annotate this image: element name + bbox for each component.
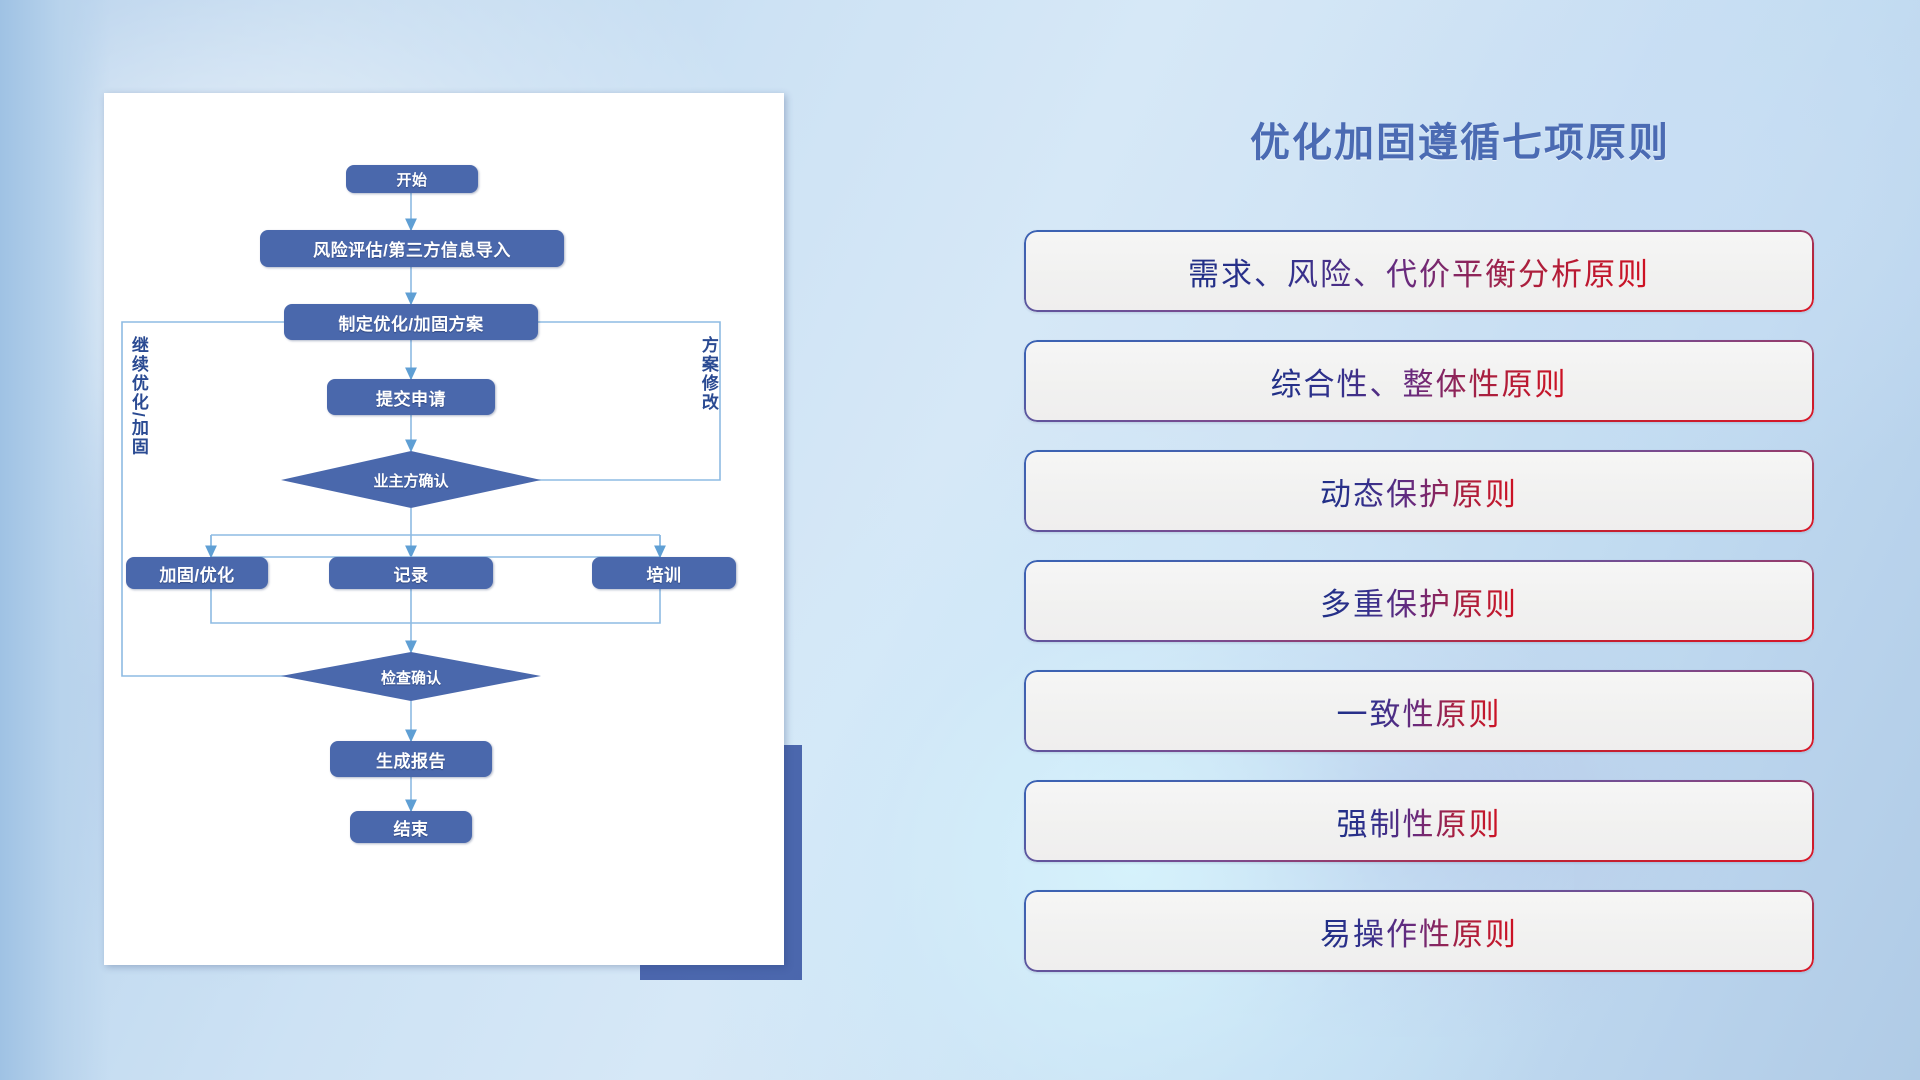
node-generate-report[interactable]: 生成报告	[330, 741, 492, 777]
principle-label: 多重保护原则	[1320, 579, 1518, 624]
principle-item[interactable]: 多重保护原则	[1024, 560, 1814, 642]
node-submit-application-label: 提交申请	[376, 385, 446, 410]
principle-item[interactable]: 需求、风险、代价平衡分析原则	[1024, 230, 1814, 312]
node-risk-assessment-label: 风险评估/第三方信息导入	[313, 236, 511, 261]
decision-owner-confirm-label: 业主方确认	[373, 470, 448, 491]
principle-label: 易操作性原则	[1320, 909, 1518, 954]
panel-title: 优化加固遵循七项原则	[1000, 110, 1920, 168]
node-training[interactable]: 培训	[592, 557, 736, 589]
node-generate-report-label: 生成报告	[376, 747, 446, 772]
principle-label: 动态保护原则	[1320, 469, 1518, 514]
principles-list: 需求、风险、代价平衡分析原则 综合性、整体性原则 动态保护原则 多重保护原则 一…	[1024, 230, 1814, 1000]
principles-panel: 优化加固遵循七项原则 需求、风险、代价平衡分析原则 综合性、整体性原则 动态保护…	[1000, 0, 1920, 1080]
node-record[interactable]: 记录	[329, 557, 493, 589]
decision-owner-confirm[interactable]: 业主方确认	[311, 467, 511, 493]
principle-item[interactable]: 易操作性原则	[1024, 890, 1814, 972]
node-start[interactable]: 开始	[346, 165, 478, 193]
node-risk-assessment[interactable]: 风险评估/第三方信息导入	[260, 230, 564, 267]
node-submit-application[interactable]: 提交申请	[327, 379, 495, 415]
principle-label: 强制性原则	[1337, 799, 1502, 844]
principle-item[interactable]: 一致性原则	[1024, 670, 1814, 752]
edge-label-continue-optimize: 继续优化/加固	[129, 336, 147, 457]
node-record-label: 记录	[394, 561, 429, 586]
node-reinforce[interactable]: 加固/优化	[126, 557, 268, 589]
node-make-plan-label: 制定优化/加固方案	[338, 310, 483, 335]
node-training-label: 培训	[647, 561, 682, 586]
flowchart-card: 开始 风险评估/第三方信息导入 制定优化/加固方案 提交申请 业主方确认 加固/…	[104, 93, 784, 965]
node-start-label: 开始	[396, 169, 427, 190]
node-make-plan[interactable]: 制定优化/加固方案	[284, 304, 538, 340]
principle-label: 一致性原则	[1337, 689, 1502, 734]
edge-label-plan-revision: 方案修改	[699, 336, 717, 412]
decision-check-confirm-label: 检查确认	[381, 667, 441, 688]
flowchart-panel: 开始 风险评估/第三方信息导入 制定优化/加固方案 提交申请 业主方确认 加固/…	[0, 0, 820, 1080]
principle-item[interactable]: 强制性原则	[1024, 780, 1814, 862]
decision-check-confirm[interactable]: 检查确认	[326, 664, 496, 690]
principle-label: 需求、风险、代价平衡分析原则	[1188, 249, 1650, 294]
node-end[interactable]: 结束	[350, 811, 472, 843]
node-end-label: 结束	[394, 815, 429, 840]
principle-item[interactable]: 综合性、整体性原则	[1024, 340, 1814, 422]
principle-label: 综合性、整体性原则	[1271, 359, 1568, 404]
node-reinforce-label: 加固/优化	[159, 561, 234, 586]
principle-item[interactable]: 动态保护原则	[1024, 450, 1814, 532]
